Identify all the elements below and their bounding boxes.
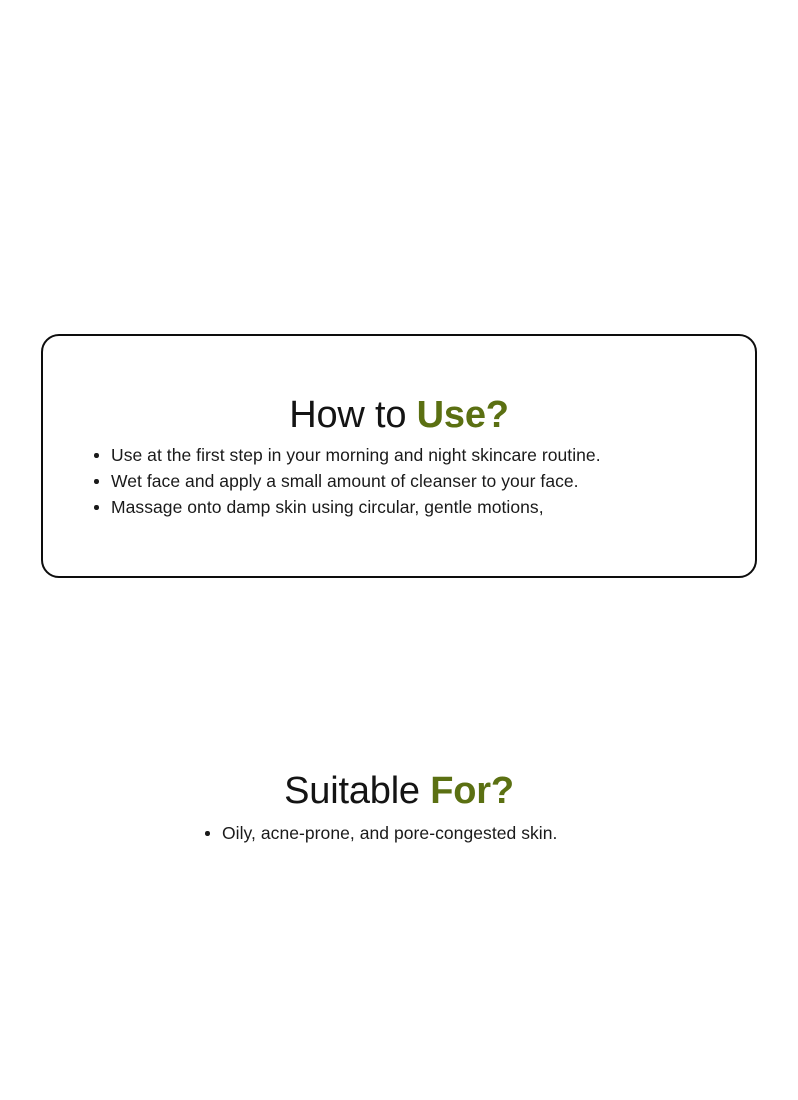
list-item: Oily, acne-prone, and pore-congested ski… — [202, 820, 557, 846]
suitable-for-heading: Suitable For? — [0, 768, 798, 814]
list-item-label: Wet face and apply a small amount of cle… — [111, 471, 579, 491]
list-item-label: Massage onto damp skin using circular, g… — [111, 497, 544, 517]
how-to-use-card: How to Use? Use at the first step in you… — [41, 334, 757, 578]
how-to-use-heading: How to Use? — [43, 392, 755, 438]
how-to-use-heading-plain: How to — [289, 394, 416, 436]
list-item-label: Oily, acne-prone, and pore-congested ski… — [222, 823, 557, 843]
list-item-label: Use at the first step in your morning an… — [111, 445, 601, 465]
how-to-use-list: Use at the first step in your morning an… — [91, 442, 601, 520]
suitable-for-heading-accent: For? — [430, 770, 514, 812]
list-item: Wet face and apply a small amount of cle… — [91, 468, 601, 494]
how-to-use-heading-accent: Use? — [417, 394, 509, 436]
suitable-for-list: Oily, acne-prone, and pore-congested ski… — [202, 820, 557, 846]
list-item: Massage onto damp skin using circular, g… — [91, 494, 601, 520]
info-graphic-page: How to Use? Use at the first step in you… — [0, 0, 798, 1100]
suitable-for-heading-plain: Suitable — [284, 770, 430, 812]
list-item: Use at the first step in your morning an… — [91, 442, 601, 468]
